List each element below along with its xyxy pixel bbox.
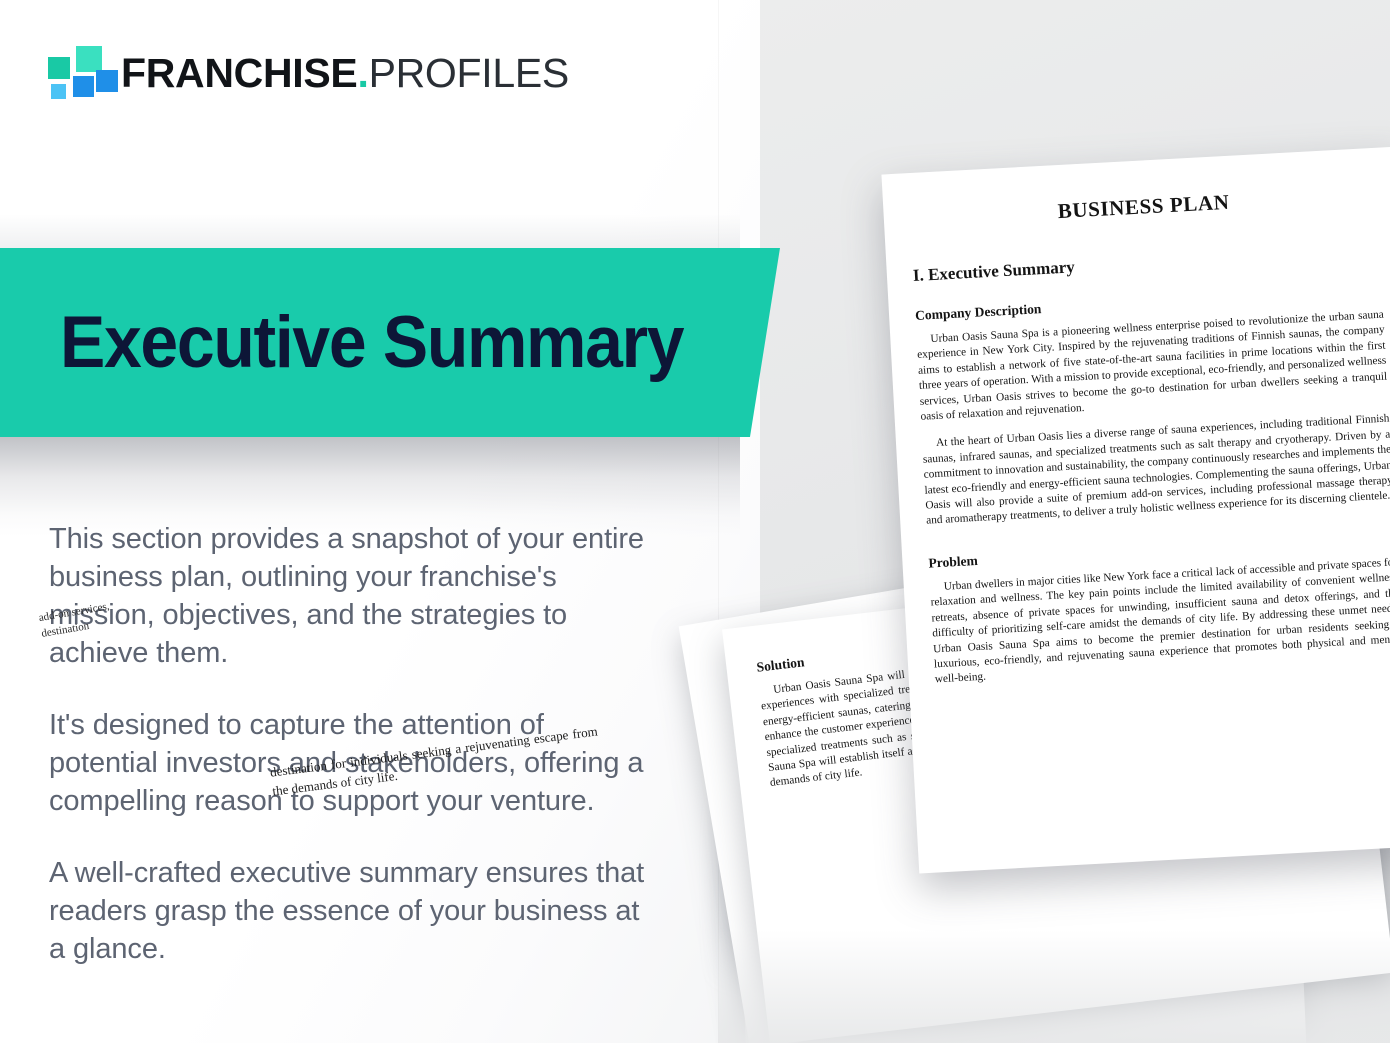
logo-squares-icon (46, 46, 108, 98)
document-sheet-main: BUSINESS PLAN I. Executive Summary Compa… (881, 146, 1390, 873)
logo-square-4 (96, 70, 118, 92)
main-page-content: BUSINESS PLAN I. Executive Summary Compa… (881, 146, 1390, 873)
slide-canvas: FRANCHISE.PROFILES Executive Summary Thi… (0, 0, 1390, 1043)
logo-square-3 (73, 76, 94, 97)
company-description-paragraph-2: At the heart of Urban Oasis lies a diver… (922, 412, 1390, 530)
banner-shadow-top (0, 214, 740, 250)
document-section-heading: I. Executive Summary (912, 241, 1380, 286)
bottom-fade-overlay (718, 930, 1390, 1043)
logo-square-5 (51, 84, 66, 99)
document-stack: Solution Urban Oasis Sauna Spa will offe… (700, 140, 1390, 1043)
logo-word-dot: . (357, 50, 368, 96)
brand-logo[interactable]: FRANCHISE.PROFILES (46, 44, 546, 106)
logo-word-profiles: PROFILES (369, 50, 569, 96)
logo-square-2 (76, 46, 102, 72)
company-description-paragraph-1: Urban Oasis Sauna Spa is a pioneering we… (916, 308, 1388, 426)
problem-paragraph: Urban dwellers in major cities like New … (929, 555, 1390, 688)
logo-word-franchise: FRANCHISE (121, 50, 357, 96)
document-title: BUSINESS PLAN (909, 182, 1378, 232)
page-title: Executive Summary (60, 247, 711, 437)
logo-wordmark: FRANCHISE.PROFILES (121, 42, 569, 104)
body-paragraph-3: A well-crafted executive summary ensures… (49, 854, 649, 968)
logo-square-1 (48, 57, 70, 79)
